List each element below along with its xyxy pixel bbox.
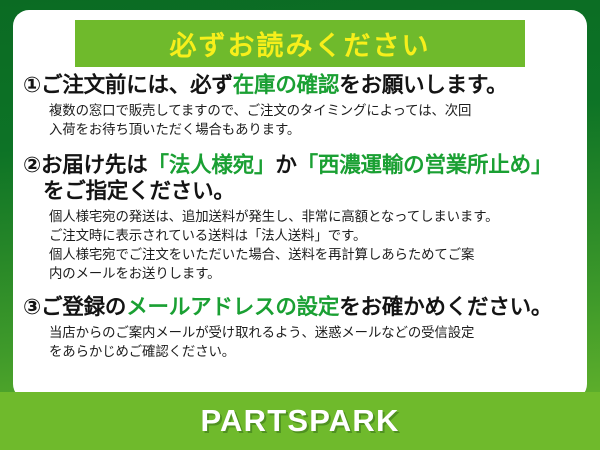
notice-item-2-highlight-2: 「西濃運輸の営業所止め」 <box>297 153 553 178</box>
notice-item-2-head-mid: か <box>275 153 296 178</box>
notice-card: 必ずお読みください ①ご注文前には、必ず在庫の確認をお願いします。 複数の窓口で… <box>13 10 587 400</box>
notice-item-3-body-line-1: 当店からのご案内メールが受け取れるよう、迷惑メールなどの受信設定 <box>49 324 577 343</box>
notice-item-1-head-pre: ご注文前には、必ず <box>41 73 233 98</box>
notice-item-1-body: 複数の窓口で販売してますので、ご注文のタイミングによっては、次回 入荷をお待ち頂… <box>23 100 577 140</box>
notice-item-3-head-post: をお確かめください。 <box>339 295 552 320</box>
notice-item-3-marker: ③ <box>23 295 41 320</box>
notice-item-2-body: 個人様宅宛の発送は、追加送料が発生し、非常に高額となってしまいます。 ご注文時に… <box>23 206 577 284</box>
notice-item-3-head-pre: ご登録の <box>41 295 126 320</box>
notice-item-1-marker: ① <box>23 73 41 98</box>
notice-item-3-body-line-2: をあらかじめご確認ください。 <box>49 343 577 362</box>
notice-item-3-highlight: メールアドレスの設定 <box>126 295 339 320</box>
notice-item-2-body-line-4: 内のメールをお送りします。 <box>49 265 577 284</box>
title-banner: 必ずお読みください <box>75 20 525 67</box>
notice-item-1-body-line-1: 複数の窓口で販売してますので、ご注文のタイミングによっては、次回 <box>49 102 577 121</box>
notice-item-1-head-post: をお願いします。 <box>339 73 507 98</box>
notice-item-2-body-line-2: ご注文時に表示されている送料は「法人送料」です。 <box>49 227 577 246</box>
footer-band: PARTSPARK <box>0 392 600 450</box>
notice-item-1-body-line-2: 入荷をお待ち頂いただく場合もあります。 <box>49 121 577 140</box>
notice-item-2-head-pre: お届け先は <box>41 153 148 178</box>
notice-item-1: ①ご注文前には、必ず在庫の確認をお願いします。 複数の窓口で販売してますので、ご… <box>23 73 577 140</box>
notice-item-2-heading-line2: をご指定ください。 <box>23 179 577 206</box>
notice-item-1-heading: ①ご注文前には、必ず在庫の確認をお願いします。 <box>23 73 577 100</box>
notice-item-2-highlight-1: 「法人様宛」 <box>148 153 276 178</box>
brand-logo-partspark: PARTSPARK <box>200 403 399 439</box>
notice-content: ①ご注文前には、必ず在庫の確認をお願いします。 複数の窓口で販売してますので、ご… <box>13 67 587 364</box>
notice-item-3-body: 当店からのご案内メールが受け取れるよう、迷惑メールなどの受信設定 をあらかじめご… <box>23 322 577 362</box>
notice-item-1-highlight: 在庫の確認 <box>233 73 340 98</box>
notice-item-2-body-line-3: 個人様宅宛でご注文をいただいた場合、送料を再計算しあらためてご案 <box>49 246 577 265</box>
notice-item-3-heading: ③ご登録のメールアドレスの設定をお確かめください。 <box>23 295 577 322</box>
notice-item-2-marker: ② <box>23 153 41 178</box>
notice-item-2: ②お届け先は「法人様宛」か「西濃運輸の営業所止め」 をご指定ください。 個人様宅… <box>23 153 577 284</box>
notice-item-3: ③ご登録のメールアドレスの設定をお確かめください。 当店からのご案内メールが受け… <box>23 295 577 362</box>
notice-item-2-heading: ②お届け先は「法人様宛」か「西濃運輸の営業所止め」 <box>23 153 577 180</box>
page-title: 必ずお読みください <box>170 24 431 63</box>
notice-poster: 必ずお読みください ①ご注文前には、必ず在庫の確認をお願いします。 複数の窓口で… <box>0 0 600 450</box>
notice-item-2-body-line-1: 個人様宅宛の発送は、追加送料が発生し、非常に高額となってしまいます。 <box>49 208 577 227</box>
